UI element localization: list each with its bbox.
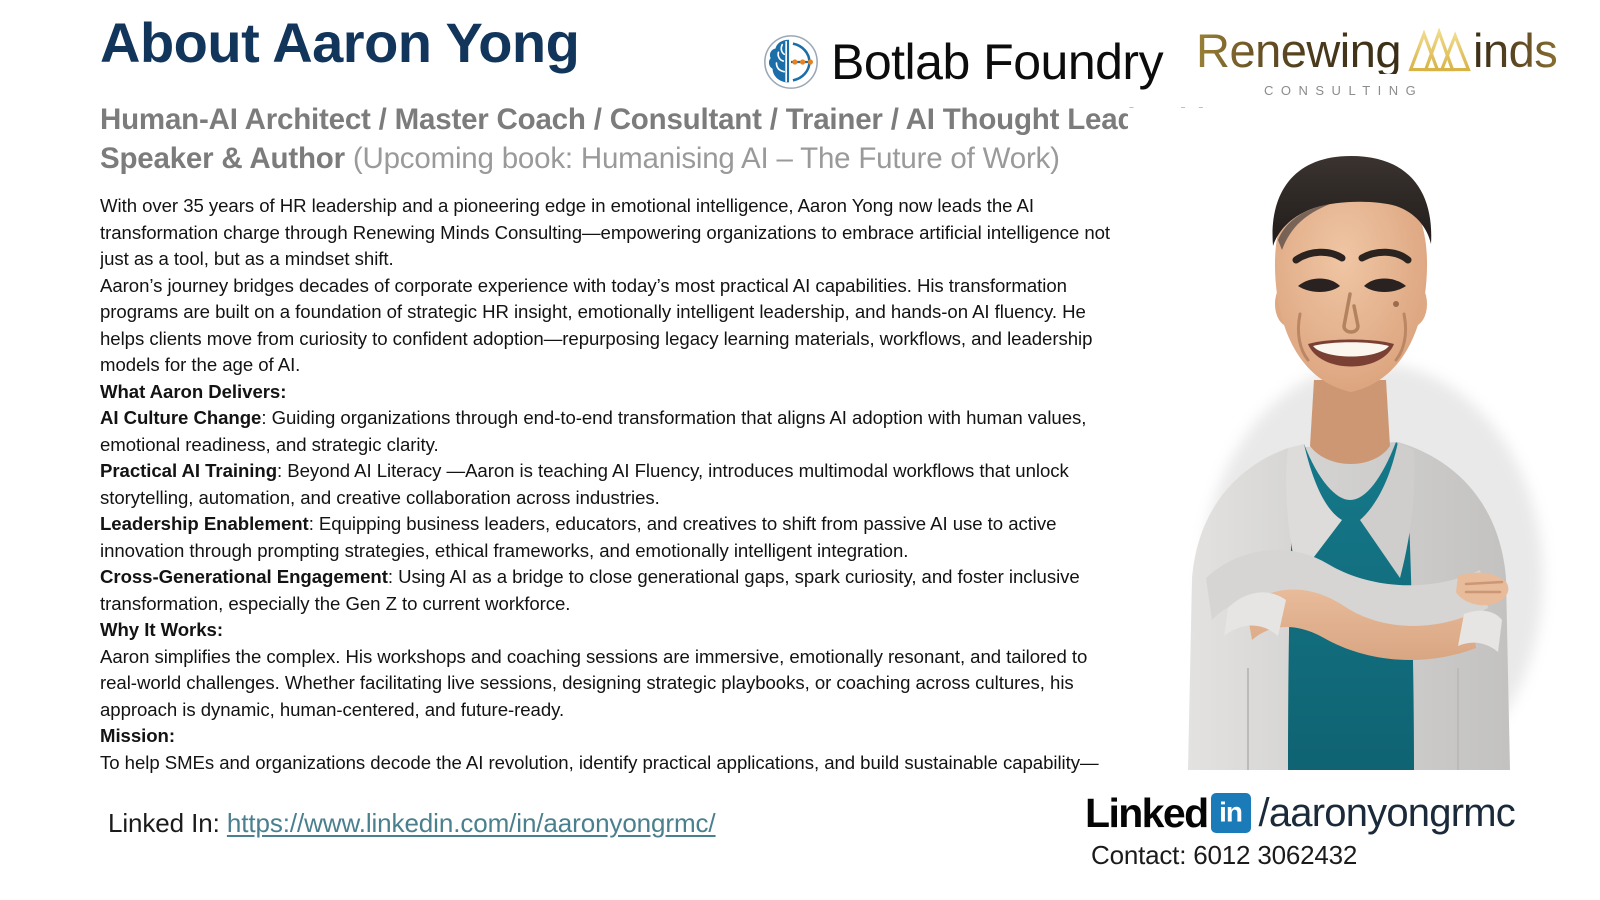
portrait-photo bbox=[1128, 108, 1560, 770]
minds-word: inds bbox=[1473, 27, 1557, 74]
body-paragraph: Aaron simplifies the complex. His worksh… bbox=[100, 644, 1112, 724]
page-header: About Aaron Yong Botlab Foundry Renewing bbox=[0, 0, 1600, 110]
linkedin-logo-row: Linked in /aaronyongrmc bbox=[1085, 790, 1565, 836]
paragraph-lead: Why It Works: bbox=[100, 619, 223, 640]
paragraph-lead: Leadership Enablement bbox=[100, 513, 309, 534]
body-paragraph: Cross-Generational Engagement: Using AI … bbox=[100, 564, 1112, 617]
paragraph-text: Aaron simplifies the complex. His worksh… bbox=[100, 646, 1087, 720]
subtitle-book-note: (Upcoming book: Humanising AI – The Futu… bbox=[353, 142, 1060, 175]
brain-circuit-icon bbox=[760, 31, 822, 93]
body-paragraph: Mission: bbox=[100, 723, 1112, 750]
about-body-copy: With over 35 years of HR leadership and … bbox=[100, 193, 1112, 776]
paragraph-lead: What Aaron Delivers: bbox=[100, 381, 286, 402]
linkedin-handle: /aaronyongrmc bbox=[1259, 793, 1515, 833]
linkedin-profile-link[interactable]: https://www.linkedin.com/in/aaronyongrmc… bbox=[227, 808, 716, 838]
linkedin-in-letters: in bbox=[1211, 798, 1251, 826]
page-title: About Aaron Yong bbox=[100, 14, 579, 73]
renewing-word: Renewing bbox=[1196, 27, 1401, 74]
body-paragraph: To help SMEs and organizations decode th… bbox=[100, 750, 1112, 777]
paragraph-text: With over 35 years of HR leadership and … bbox=[100, 195, 1110, 269]
renewing-minds-tagline: CONSULTING bbox=[1264, 83, 1423, 98]
botlab-foundry-logo: Botlab Foundry bbox=[760, 26, 1163, 98]
body-paragraph: Leadership Enablement: Equipping busines… bbox=[100, 511, 1112, 564]
body-paragraph: What Aaron Delivers: bbox=[100, 379, 1112, 406]
body-paragraph: Practical AI Training: Beyond AI Literac… bbox=[100, 458, 1112, 511]
linkedin-logo-word: Linked bbox=[1085, 793, 1208, 834]
body-paragraph: AI Culture Change: Guiding organizations… bbox=[100, 405, 1112, 458]
paragraph-lead: Cross-Generational Engagement bbox=[100, 566, 388, 587]
paragraph-text: Aaron’s journey bridges decades of corpo… bbox=[100, 275, 1092, 376]
body-paragraph: Aaron’s journey bridges decades of corpo… bbox=[100, 273, 1112, 379]
paragraph-text: To help SMEs and organizations decode th… bbox=[100, 752, 1099, 777]
linkedin-url-line: Linked In: https://www.linkedin.com/in/a… bbox=[108, 808, 716, 839]
botlab-wordmark: Botlab Foundry bbox=[831, 37, 1163, 87]
renewing-minds-logo: Renewing inds bbox=[1196, 22, 1556, 108]
mountain-m-icon bbox=[1408, 28, 1472, 72]
paragraph-lead: AI Culture Change bbox=[100, 407, 261, 428]
body-paragraph: With over 35 years of HR leadership and … bbox=[100, 193, 1112, 273]
linkedin-brand-block: Linked in /aaronyongrmc Contact: 6012 30… bbox=[1085, 790, 1565, 871]
contact-number: Contact: 6012 3062432 bbox=[1091, 840, 1565, 871]
linkedin-label: Linked In: bbox=[108, 808, 227, 838]
linkedin-in-icon: in bbox=[1211, 793, 1251, 833]
paragraph-lead: Mission: bbox=[100, 725, 175, 746]
paragraph-lead: Practical AI Training bbox=[100, 460, 277, 481]
body-paragraph: Why It Works: bbox=[100, 617, 1112, 644]
